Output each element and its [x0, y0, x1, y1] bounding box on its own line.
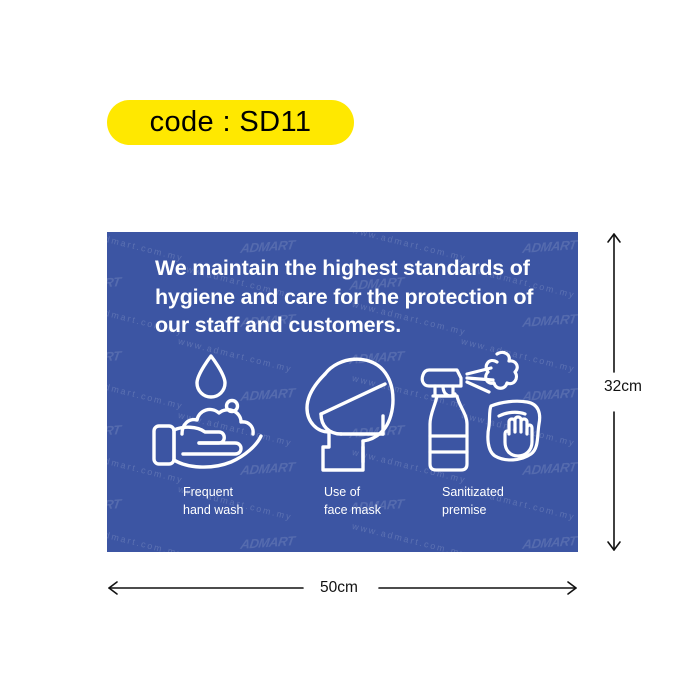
icon-row — [107, 344, 578, 474]
caption-sanitized-premise: Sanitizated premise — [442, 484, 504, 520]
watermark-row: www.admart.com.my ADMART www.admart.com.… — [107, 239, 578, 254]
watermark-logo: ADMART — [239, 533, 295, 552]
poster-artwork: ADMART www.admart.com.my ADMART www.adma… — [107, 232, 578, 552]
watermark-url: www.admart.com.my — [350, 521, 468, 552]
watermark-url: www.admart.com.my — [107, 521, 185, 552]
face-mask-icon — [295, 344, 405, 474]
watermark-logo: ADMART — [107, 274, 121, 293]
hand-wash-icon — [149, 344, 274, 474]
height-dimension-label: 32cm — [604, 378, 642, 396]
spray-bottle-icon — [417, 344, 547, 474]
caption-hand-wash: Frequent hand wash — [183, 484, 243, 520]
width-dimension-label: 50cm — [320, 579, 358, 597]
watermark-logo: ADMART — [107, 496, 121, 515]
poster-headline: We maintain the highest standards of hyg… — [155, 254, 555, 340]
product-code-text: code : SD11 — [150, 106, 312, 139]
product-code-badge: code : SD11 — [107, 100, 354, 145]
caption-face-mask: Use of face mask — [324, 484, 381, 520]
watermark-row: www.admart.com.my ADMART www.admart.com.… — [107, 535, 578, 550]
watermark-logo: ADMART — [522, 533, 578, 552]
